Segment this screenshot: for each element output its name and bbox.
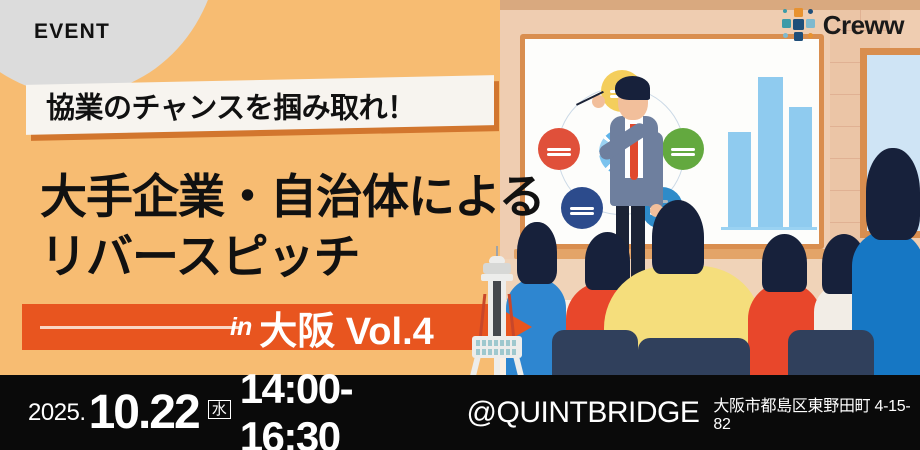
subheadline-banner: 協業のチャンスを掴み取れ！ [26,80,494,130]
audience-head [866,148,920,240]
logo-square [794,32,803,41]
chart-bar [728,132,751,227]
event-time: 14:00-16:30 [240,365,445,450]
subheadline-plate: 協業のチャンスを掴み取れ！ [26,75,494,135]
chart-baseline [721,227,817,230]
creww-logo[interactable]: Creww [782,8,904,42]
title-line-1: 大手企業・自治体による [40,158,545,227]
event-details-bar: 2025. 10.22 水 14:00-16:30 @QUINTBRIDGE 大… [0,375,920,450]
logo-dot [783,33,788,38]
diagram-node-right [662,128,704,170]
ribbon-in-label: in [230,313,252,342]
logo-dot [808,33,813,38]
creww-logo-text: Creww [823,10,904,41]
tower-truss-right [508,294,516,339]
logo-square [806,19,815,28]
event-year: 2025. [28,399,86,427]
creww-logo-mark [782,8,816,42]
tower-platform-windows [476,349,518,355]
tower-shaft-left [488,281,493,339]
chair-back [552,330,638,378]
event-dayofweek: 水 [208,400,231,419]
presenter-arm-down [648,132,663,210]
event-address: 大阪市都島区東野田町 4-15-82 [713,392,920,434]
presentation-illustration [500,0,920,378]
event-date: 10.22 [89,385,199,440]
tower-observation-deck [483,263,511,274]
chart-bar [789,107,812,227]
tower-shaft-right [501,281,506,339]
chair-back [788,330,874,378]
ribbon-text-group: in 大阪 Vol.4 [230,300,434,354]
diagram-node-bottom-left [561,187,603,229]
ribbon-location-label: 大阪 Vol.4 [259,300,434,355]
event-venue: @QUINTBRIDGE [467,396,700,430]
event-banner: EVENT 協業のチャンスを掴み取れ！ 大手企業・自治体による リバースピッチ … [0,0,920,450]
title-line-2: リバースピッチ [40,218,360,287]
logo-dot [808,9,813,14]
event-badge-label: EVENT [34,20,110,44]
tower-platform-windows [476,340,518,346]
logo-square [782,19,791,28]
chart-bar [758,77,783,227]
tower-truss-left [479,294,487,339]
tower-deck-band [481,274,513,281]
logo-square [793,19,804,30]
tsutenkaku-tower-icon [468,246,526,378]
logo-dot [783,9,787,13]
chair-back [638,338,750,378]
audience-head [762,234,807,292]
tower-top-cap [489,256,505,263]
subheadline-text: 協業のチャンスを掴み取れ！ [46,85,416,127]
logo-square [794,8,803,17]
presenter-hair [615,76,650,100]
tower-shaft-core [493,281,501,339]
ribbon-rule [40,326,240,329]
audience-head [652,200,704,274]
